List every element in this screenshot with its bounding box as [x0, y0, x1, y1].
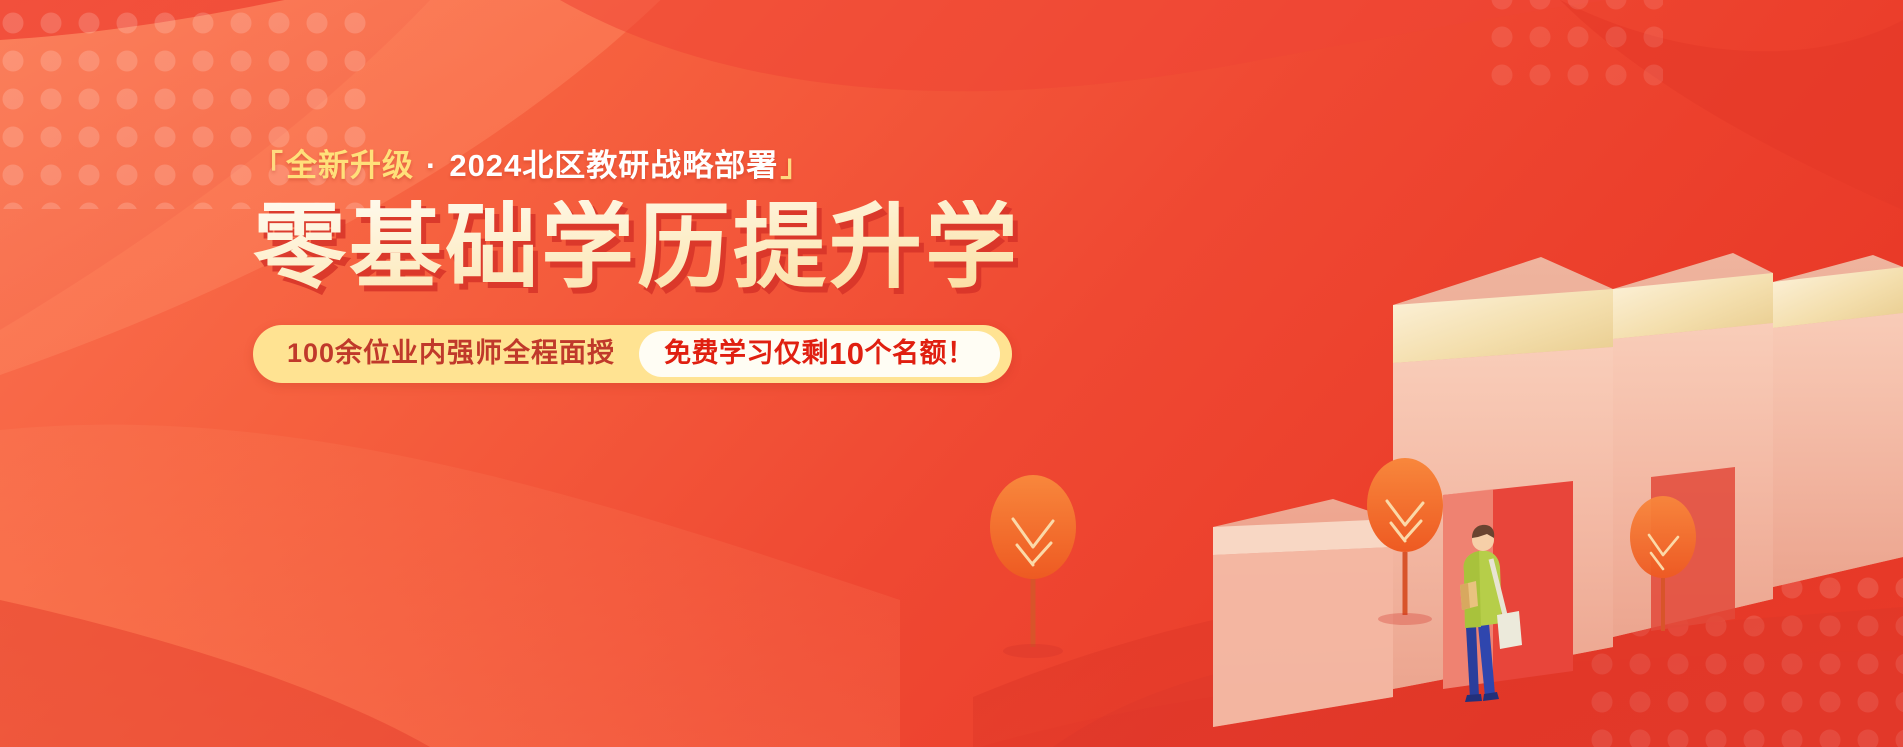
eyebrow-rest: 2024北区教研战略部署: [449, 150, 778, 181]
promo-banner: 「全新升级·2024北区教研战略部署」 零基础学历提升学霸班 100余位业内强师…: [0, 0, 1903, 747]
banner-text-block: 「全新升级·2024北区教研战略部署」 零基础学历提升学霸班 100余位业内强师…: [253, 150, 1013, 383]
pill-seats-remaining: 免费学习仅剩10个名额！: [639, 331, 999, 377]
pill-seats-count: 10: [829, 338, 864, 369]
eyebrow-line: 「全新升级·2024北区教研战略部署」: [253, 150, 1013, 182]
bracket-close: 」: [780, 152, 811, 182]
eyebrow-separator: ·: [416, 150, 447, 181]
book-arch-3: [1613, 253, 1773, 637]
bracket-open: 「: [253, 152, 284, 182]
pill-teachers-label: 100余位业内强师全程面授: [253, 340, 639, 367]
page-title: 零基础学历提升学霸班: [253, 200, 1013, 295]
dot-pattern-top-right: [1483, 0, 1663, 100]
book-arch-1: [1213, 499, 1393, 727]
tree-left: [990, 475, 1076, 658]
pill-seats-suffix: 个名额！: [865, 340, 975, 367]
book-arch-illustration: [973, 227, 1903, 747]
highlight-pill-group: 100余位业内强师全程面授 免费学习仅剩10个名额！: [253, 325, 1012, 383]
illustration-svg: [973, 227, 1903, 747]
eyebrow-highlight: 全新升级: [286, 150, 414, 181]
book-arch-4: [1773, 255, 1903, 587]
pill-seats-prefix: 免费学习仅剩: [664, 340, 829, 367]
